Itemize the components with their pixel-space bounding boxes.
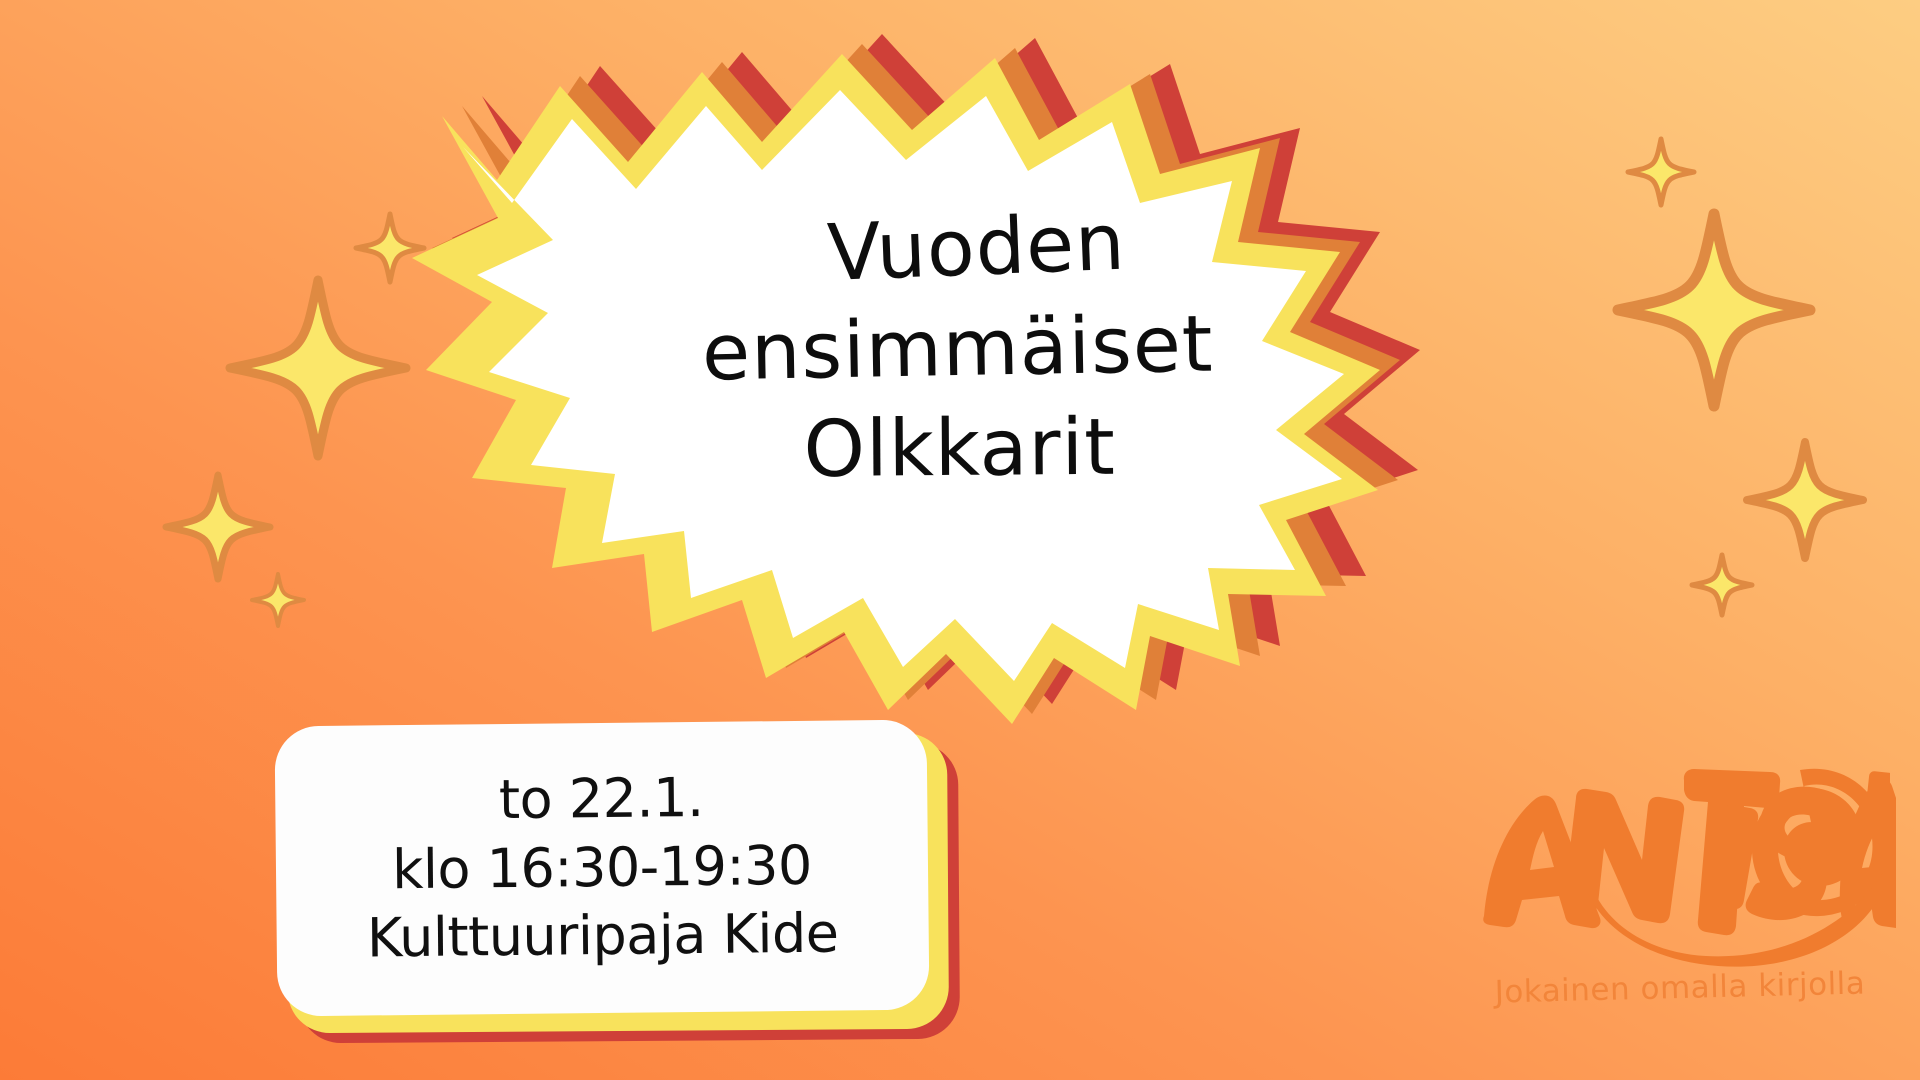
- info-date: to 22.1.: [499, 764, 704, 835]
- event-info-card: to 22.1. klo 16:30-19:30 Kulttuuripaja K…: [276, 723, 937, 1023]
- poster-canvas: Vuoden ensimmäiset Olkkarit to 22.1. klo…: [0, 0, 1920, 1080]
- info-card-face: to 22.1. klo 16:30-19:30 Kulttuuripaja K…: [274, 720, 929, 1017]
- info-venue: Kulttuuripaja Kide: [367, 900, 839, 974]
- antoisa-swoosh-icon: [1582, 860, 1892, 970]
- antoisa-logo: Jokainen omalla kirjolla: [1470, 748, 1890, 1048]
- info-time: klo 16:30-19:30: [392, 832, 812, 905]
